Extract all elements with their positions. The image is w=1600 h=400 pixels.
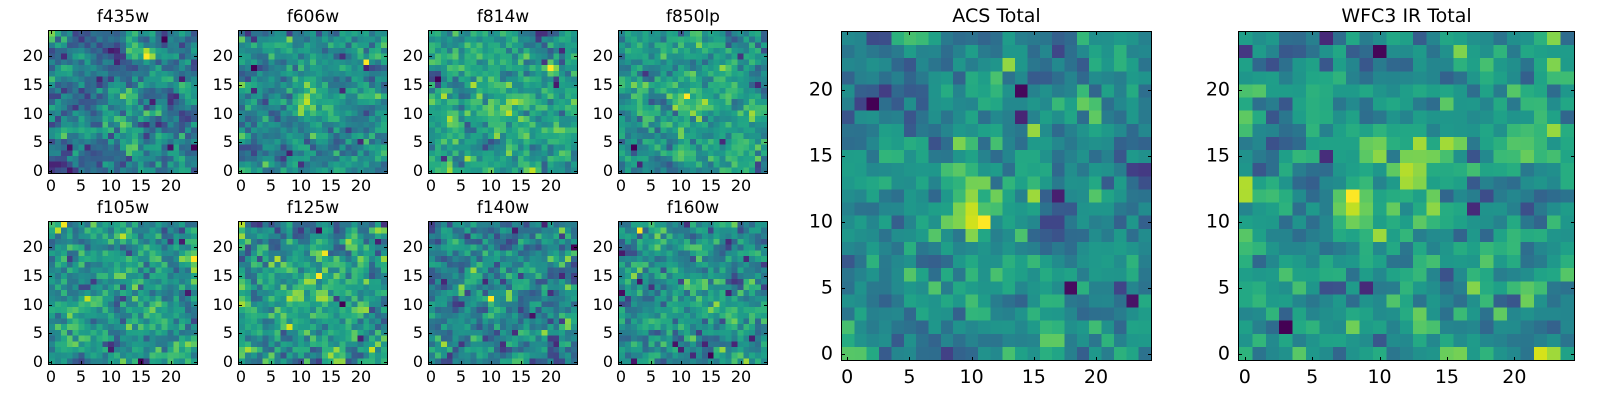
ytick-right-f814w-10 <box>574 114 578 115</box>
ytick-right-acs-total-0 <box>1148 354 1152 355</box>
xtick-top-f814w-0 <box>431 30 432 34</box>
xticklabel-wfc3-ir-total-0: 0 <box>1239 367 1251 388</box>
ytick-acs-total-10 <box>841 222 845 223</box>
ytick-f125w-15 <box>238 276 242 277</box>
ytick-f606w-15 <box>238 85 242 86</box>
ytick-right-f105w-20 <box>194 247 198 248</box>
ytick-f160w-15 <box>618 276 622 277</box>
heatmap-image-f125w <box>239 222 387 364</box>
xticklabel-f140w-20: 20 <box>541 368 561 386</box>
panel-title-f105w: f105w <box>48 198 198 218</box>
xtick-top-f435w-5 <box>81 30 82 34</box>
ytick-right-acs-total-15 <box>1148 156 1152 157</box>
ytick-f140w-20 <box>428 247 432 248</box>
panel-f850lp: f850lp0510152005101520 <box>618 30 768 174</box>
panel-f606w: f606w0510152005101520 <box>238 30 388 174</box>
ytick-right-wfc3-ir-total-15 <box>1571 156 1575 157</box>
yticklabel-f850lp-0: 0 <box>603 162 613 180</box>
ytick-f606w-5 <box>238 142 242 143</box>
xtick-wfc3-ir-total-10 <box>1380 357 1381 361</box>
yticklabel-f606w-0: 0 <box>223 162 233 180</box>
ytick-right-f814w-15 <box>574 85 578 86</box>
yticklabel-acs-total-5: 5 <box>821 278 833 299</box>
ytick-f140w-0 <box>428 362 432 363</box>
ytick-right-acs-total-20 <box>1148 90 1152 91</box>
xtick-acs-total-20 <box>1096 357 1097 361</box>
xticklabel-f140w-0: 0 <box>426 368 436 386</box>
heatmap-axes-f814w <box>428 30 578 174</box>
yticklabel-f140w-15: 15 <box>403 267 423 285</box>
ytick-right-f140w-5 <box>574 333 578 334</box>
xtick-top-f850lp-20 <box>741 30 742 34</box>
heatmap-image-f606w <box>239 31 387 173</box>
ytick-acs-total-15 <box>841 156 845 157</box>
xtick-top-f850lp-0 <box>621 30 622 34</box>
xtick-f850lp-15 <box>711 170 712 174</box>
heatmap-image-acs-total <box>842 32 1151 360</box>
xticklabel-f435w-5: 5 <box>76 177 86 195</box>
yticklabel-f160w-20: 20 <box>593 238 613 256</box>
xtick-top-f606w-0 <box>241 30 242 34</box>
ytick-right-wfc3-ir-total-20 <box>1571 90 1575 91</box>
xtick-top-f606w-15 <box>331 30 332 34</box>
ytick-f814w-20 <box>428 56 432 57</box>
xtick-top-f160w-15 <box>711 221 712 225</box>
xtick-top-f125w-15 <box>331 221 332 225</box>
xticklabel-f606w-5: 5 <box>266 177 276 195</box>
panel-f140w: f140w0510152005101520 <box>428 221 578 365</box>
ytick-right-wfc3-ir-total-10 <box>1571 222 1575 223</box>
xtick-top-f160w-0 <box>621 221 622 225</box>
xticklabel-f435w-20: 20 <box>161 177 181 195</box>
xticklabel-f850lp-5: 5 <box>646 177 656 195</box>
ytick-wfc3-ir-total-0 <box>1238 354 1242 355</box>
yticklabel-f140w-5: 5 <box>413 324 423 342</box>
ytick-right-f606w-10 <box>384 114 388 115</box>
xtick-f850lp-10 <box>681 170 682 174</box>
ytick-right-f160w-0 <box>764 362 768 363</box>
xtick-f140w-15 <box>521 361 522 365</box>
xtick-top-f160w-20 <box>741 221 742 225</box>
xticklabel-f606w-20: 20 <box>351 177 371 195</box>
yticklabel-f160w-15: 15 <box>593 267 613 285</box>
xtick-top-f140w-0 <box>431 221 432 225</box>
panel-title-acs-total: ACS Total <box>841 5 1152 27</box>
xticklabel-f160w-0: 0 <box>616 368 626 386</box>
panel-f125w: f125w0510152005101520 <box>238 221 388 365</box>
panel-title-f814w: f814w <box>428 7 578 27</box>
yticklabel-f160w-0: 0 <box>603 353 613 371</box>
xtick-top-acs-total-5 <box>909 31 910 35</box>
ytick-f435w-15 <box>48 85 52 86</box>
ytick-f140w-10 <box>428 305 432 306</box>
xticklabel-wfc3-ir-total-5: 5 <box>1306 367 1318 388</box>
xticklabel-f850lp-20: 20 <box>731 177 751 195</box>
yticklabel-f160w-10: 10 <box>593 296 613 314</box>
xtick-top-f105w-15 <box>141 221 142 225</box>
xticklabel-f814w-0: 0 <box>426 177 436 195</box>
xtick-f105w-10 <box>111 361 112 365</box>
ytick-right-f606w-15 <box>384 85 388 86</box>
xticklabel-f814w-20: 20 <box>541 177 561 195</box>
ytick-right-f814w-20 <box>574 56 578 57</box>
ytick-right-f105w-5 <box>194 333 198 334</box>
ytick-right-f850lp-20 <box>764 56 768 57</box>
xtick-f606w-15 <box>331 170 332 174</box>
xtick-f435w-10 <box>111 170 112 174</box>
yticklabel-f105w-20: 20 <box>23 238 43 256</box>
ytick-f850lp-5 <box>618 142 622 143</box>
xtick-top-f125w-10 <box>301 221 302 225</box>
ytick-f125w-10 <box>238 305 242 306</box>
ytick-f850lp-15 <box>618 85 622 86</box>
xtick-top-wfc3-ir-total-0 <box>1245 31 1246 35</box>
xtick-top-f435w-0 <box>51 30 52 34</box>
xtick-f850lp-5 <box>651 170 652 174</box>
xtick-f105w-20 <box>171 361 172 365</box>
yticklabel-wfc3-ir-total-5: 5 <box>1218 278 1230 299</box>
panel-acs-total: ACS Total0510152005101520 <box>841 31 1152 361</box>
yticklabel-wfc3-ir-total-15: 15 <box>1206 146 1230 167</box>
xtick-acs-total-0 <box>847 357 848 361</box>
ytick-right-f160w-15 <box>764 276 768 277</box>
yticklabel-f140w-20: 20 <box>403 238 423 256</box>
heatmap-image-f140w <box>429 222 577 364</box>
heatmap-axes-f850lp <box>618 30 768 174</box>
ytick-f140w-15 <box>428 276 432 277</box>
heatmap-axes-wfc3-ir-total <box>1238 31 1575 361</box>
panel-wfc3-ir-total: WFC3 IR Total0510152005101520 <box>1238 31 1575 361</box>
xtick-top-acs-total-20 <box>1096 31 1097 35</box>
panel-f814w: f814w0510152005101520 <box>428 30 578 174</box>
yticklabel-f814w-20: 20 <box>403 47 423 65</box>
xtick-top-f606w-5 <box>271 30 272 34</box>
yticklabel-f814w-0: 0 <box>413 162 423 180</box>
yticklabel-f435w-20: 20 <box>23 47 43 65</box>
xtick-wfc3-ir-total-5 <box>1312 357 1313 361</box>
ytick-right-f435w-20 <box>194 56 198 57</box>
xtick-acs-total-5 <box>909 357 910 361</box>
ytick-f105w-10 <box>48 305 52 306</box>
ytick-f435w-10 <box>48 114 52 115</box>
ytick-right-f160w-5 <box>764 333 768 334</box>
ytick-right-f125w-0 <box>384 362 388 363</box>
xtick-f814w-15 <box>521 170 522 174</box>
xticklabel-f140w-5: 5 <box>456 368 466 386</box>
ytick-f814w-15 <box>428 85 432 86</box>
yticklabel-f435w-5: 5 <box>33 133 43 151</box>
ytick-right-f125w-15 <box>384 276 388 277</box>
panel-title-wfc3-ir-total: WFC3 IR Total <box>1238 5 1575 27</box>
xtick-top-f850lp-10 <box>681 30 682 34</box>
yticklabel-f606w-10: 10 <box>213 105 233 123</box>
ytick-acs-total-20 <box>841 90 845 91</box>
xticklabel-f105w-15: 15 <box>131 368 151 386</box>
xtick-f814w-20 <box>551 170 552 174</box>
xtick-top-f606w-10 <box>301 30 302 34</box>
ytick-right-wfc3-ir-total-5 <box>1571 288 1575 289</box>
heatmap-axes-f105w <box>48 221 198 365</box>
xtick-f125w-20 <box>361 361 362 365</box>
xtick-top-f140w-5 <box>461 221 462 225</box>
yticklabel-f606w-20: 20 <box>213 47 233 65</box>
xticklabel-f140w-15: 15 <box>511 368 531 386</box>
yticklabel-f850lp-20: 20 <box>593 47 613 65</box>
yticklabel-f850lp-10: 10 <box>593 105 613 123</box>
panel-f105w: f105w0510152005101520 <box>48 221 198 365</box>
xticklabel-acs-total-10: 10 <box>960 367 984 388</box>
xtick-top-wfc3-ir-total-15 <box>1447 31 1448 35</box>
yticklabel-f814w-10: 10 <box>403 105 423 123</box>
xtick-top-f850lp-15 <box>711 30 712 34</box>
ytick-acs-total-0 <box>841 354 845 355</box>
heatmap-axes-f160w <box>618 221 768 365</box>
xtick-f435w-5 <box>81 170 82 174</box>
xticklabel-f160w-15: 15 <box>701 368 721 386</box>
xtick-f435w-15 <box>141 170 142 174</box>
xticklabel-f435w-0: 0 <box>46 177 56 195</box>
ytick-f814w-10 <box>428 114 432 115</box>
yticklabel-f435w-10: 10 <box>23 105 43 123</box>
xtick-wfc3-ir-total-20 <box>1514 357 1515 361</box>
xtick-top-f105w-10 <box>111 221 112 225</box>
ytick-right-f606w-20 <box>384 56 388 57</box>
xtick-f140w-10 <box>491 361 492 365</box>
heatmap-axes-acs-total <box>841 31 1152 361</box>
panel-title-f850lp: f850lp <box>618 7 768 27</box>
heatmap-axes-f125w <box>238 221 388 365</box>
yticklabel-f160w-5: 5 <box>603 324 613 342</box>
yticklabel-f105w-10: 10 <box>23 296 43 314</box>
xtick-top-f814w-15 <box>521 30 522 34</box>
yticklabel-wfc3-ir-total-10: 10 <box>1206 212 1230 233</box>
xtick-f814w-5 <box>461 170 462 174</box>
ytick-f606w-10 <box>238 114 242 115</box>
xticklabel-f125w-10: 10 <box>291 368 311 386</box>
xtick-top-f105w-5 <box>81 221 82 225</box>
figure-canvas: f435w0510152005101520f606w05101520051015… <box>0 0 1600 400</box>
xtick-top-acs-total-10 <box>972 31 973 35</box>
heatmap-image-f435w <box>49 31 197 173</box>
xticklabel-f435w-15: 15 <box>131 177 151 195</box>
ytick-right-f850lp-0 <box>764 171 768 172</box>
ytick-wfc3-ir-total-10 <box>1238 222 1242 223</box>
xtick-top-f606w-20 <box>361 30 362 34</box>
yticklabel-wfc3-ir-total-0: 0 <box>1218 344 1230 365</box>
ytick-f160w-20 <box>618 247 622 248</box>
xtick-f160w-20 <box>741 361 742 365</box>
ytick-right-f125w-10 <box>384 305 388 306</box>
xticklabel-f606w-10: 10 <box>291 177 311 195</box>
xticklabel-acs-total-15: 15 <box>1022 367 1046 388</box>
xticklabel-f850lp-10: 10 <box>671 177 691 195</box>
yticklabel-f140w-10: 10 <box>403 296 423 314</box>
yticklabel-acs-total-15: 15 <box>809 146 833 167</box>
ytick-right-f435w-15 <box>194 85 198 86</box>
ytick-right-f140w-10 <box>574 305 578 306</box>
yticklabel-acs-total-20: 20 <box>809 80 833 101</box>
xticklabel-f814w-5: 5 <box>456 177 466 195</box>
xtick-top-f160w-5 <box>651 221 652 225</box>
yticklabel-f814w-5: 5 <box>413 133 423 151</box>
ytick-wfc3-ir-total-15 <box>1238 156 1242 157</box>
xticklabel-f140w-10: 10 <box>481 368 501 386</box>
yticklabel-f814w-15: 15 <box>403 76 423 94</box>
ytick-f850lp-10 <box>618 114 622 115</box>
xticklabel-f105w-5: 5 <box>76 368 86 386</box>
yticklabel-f105w-5: 5 <box>33 324 43 342</box>
ytick-f105w-15 <box>48 276 52 277</box>
ytick-f105w-0 <box>48 362 52 363</box>
ytick-right-f606w-5 <box>384 142 388 143</box>
xticklabel-wfc3-ir-total-10: 10 <box>1367 367 1391 388</box>
ytick-right-wfc3-ir-total-0 <box>1571 354 1575 355</box>
ytick-right-f105w-0 <box>194 362 198 363</box>
panel-title-f160w: f160w <box>618 198 768 218</box>
ytick-right-f814w-0 <box>574 171 578 172</box>
xtick-top-wfc3-ir-total-10 <box>1380 31 1381 35</box>
xtick-top-f850lp-5 <box>651 30 652 34</box>
xtick-top-f814w-20 <box>551 30 552 34</box>
ytick-right-f850lp-15 <box>764 85 768 86</box>
xticklabel-f125w-20: 20 <box>351 368 371 386</box>
ytick-right-acs-total-5 <box>1148 288 1152 289</box>
yticklabel-acs-total-10: 10 <box>809 212 833 233</box>
ytick-f160w-10 <box>618 305 622 306</box>
yticklabel-f606w-5: 5 <box>223 133 233 151</box>
xtick-f125w-10 <box>301 361 302 365</box>
yticklabel-f435w-15: 15 <box>23 76 43 94</box>
heatmap-image-f105w <box>49 222 197 364</box>
xtick-top-f160w-10 <box>681 221 682 225</box>
yticklabel-f125w-5: 5 <box>223 324 233 342</box>
xtick-f850lp-20 <box>741 170 742 174</box>
xtick-top-f814w-5 <box>461 30 462 34</box>
ytick-right-f105w-10 <box>194 305 198 306</box>
ytick-f125w-0 <box>238 362 242 363</box>
xticklabel-acs-total-20: 20 <box>1084 367 1108 388</box>
ytick-f160w-0 <box>618 362 622 363</box>
xticklabel-wfc3-ir-total-15: 15 <box>1435 367 1459 388</box>
ytick-f606w-20 <box>238 56 242 57</box>
xticklabel-f160w-20: 20 <box>731 368 751 386</box>
panel-f160w: f160w0510152005101520 <box>618 221 768 365</box>
xticklabel-f814w-15: 15 <box>511 177 531 195</box>
ytick-f814w-5 <box>428 142 432 143</box>
ytick-f850lp-20 <box>618 56 622 57</box>
xtick-f140w-5 <box>461 361 462 365</box>
yticklabel-f105w-15: 15 <box>23 267 43 285</box>
ytick-wfc3-ir-total-5 <box>1238 288 1242 289</box>
xticklabel-f435w-10: 10 <box>101 177 121 195</box>
xticklabel-f160w-5: 5 <box>646 368 656 386</box>
xtick-f125w-15 <box>331 361 332 365</box>
panel-title-f435w: f435w <box>48 7 198 27</box>
xtick-top-f814w-10 <box>491 30 492 34</box>
yticklabel-wfc3-ir-total-20: 20 <box>1206 80 1230 101</box>
ytick-f435w-20 <box>48 56 52 57</box>
xtick-f814w-10 <box>491 170 492 174</box>
xticklabel-f606w-0: 0 <box>236 177 246 195</box>
xtick-f125w-5 <box>271 361 272 365</box>
xticklabel-f814w-10: 10 <box>481 177 501 195</box>
xtick-f160w-10 <box>681 361 682 365</box>
xticklabel-f105w-10: 10 <box>101 368 121 386</box>
heatmap-image-f814w <box>429 31 577 173</box>
yticklabel-f125w-10: 10 <box>213 296 233 314</box>
xtick-top-f140w-15 <box>521 221 522 225</box>
heatmap-axes-f140w <box>428 221 578 365</box>
xticklabel-f125w-0: 0 <box>236 368 246 386</box>
ytick-right-f435w-0 <box>194 171 198 172</box>
xtick-f606w-5 <box>271 170 272 174</box>
panel-title-f606w: f606w <box>238 7 388 27</box>
xticklabel-f105w-20: 20 <box>161 368 181 386</box>
panel-f435w: f435w0510152005101520 <box>48 30 198 174</box>
ytick-right-f160w-10 <box>764 305 768 306</box>
xticklabel-wfc3-ir-total-20: 20 <box>1502 367 1526 388</box>
xtick-top-f105w-20 <box>171 221 172 225</box>
xtick-wfc3-ir-total-15 <box>1447 357 1448 361</box>
xtick-acs-total-10 <box>972 357 973 361</box>
ytick-f435w-0 <box>48 171 52 172</box>
yticklabel-f606w-15: 15 <box>213 76 233 94</box>
yticklabel-f125w-20: 20 <box>213 238 233 256</box>
xtick-top-wfc3-ir-total-5 <box>1312 31 1313 35</box>
xtick-f606w-10 <box>301 170 302 174</box>
panel-title-f140w: f140w <box>428 198 578 218</box>
ytick-right-f160w-20 <box>764 247 768 248</box>
heatmap-image-f850lp <box>619 31 767 173</box>
xticklabel-f105w-0: 0 <box>46 368 56 386</box>
xtick-top-f125w-20 <box>361 221 362 225</box>
xtick-top-f435w-10 <box>111 30 112 34</box>
yticklabel-f105w-0: 0 <box>33 353 43 371</box>
xticklabel-f850lp-0: 0 <box>616 177 626 195</box>
xticklabel-acs-total-5: 5 <box>903 367 915 388</box>
xtick-f105w-5 <box>81 361 82 365</box>
ytick-f606w-0 <box>238 171 242 172</box>
xtick-top-acs-total-0 <box>847 31 848 35</box>
ytick-right-f435w-10 <box>194 114 198 115</box>
xtick-f105w-15 <box>141 361 142 365</box>
ytick-acs-total-5 <box>841 288 845 289</box>
heatmap-axes-f435w <box>48 30 198 174</box>
xtick-top-f140w-10 <box>491 221 492 225</box>
xticklabel-f125w-5: 5 <box>266 368 276 386</box>
ytick-wfc3-ir-total-20 <box>1238 90 1242 91</box>
ytick-right-f850lp-10 <box>764 114 768 115</box>
xtick-top-f435w-15 <box>141 30 142 34</box>
ytick-right-f140w-15 <box>574 276 578 277</box>
ytick-f125w-20 <box>238 247 242 248</box>
xtick-acs-total-15 <box>1034 357 1035 361</box>
xticklabel-f850lp-15: 15 <box>701 177 721 195</box>
heatmap-image-f160w <box>619 222 767 364</box>
ytick-f814w-0 <box>428 171 432 172</box>
ytick-f105w-20 <box>48 247 52 248</box>
ytick-right-f435w-5 <box>194 142 198 143</box>
xtick-f160w-5 <box>651 361 652 365</box>
xtick-top-f435w-20 <box>171 30 172 34</box>
yticklabel-f140w-0: 0 <box>413 353 423 371</box>
ytick-right-f125w-5 <box>384 333 388 334</box>
xtick-top-f125w-5 <box>271 221 272 225</box>
xticklabel-f160w-10: 10 <box>671 368 691 386</box>
ytick-right-f105w-15 <box>194 276 198 277</box>
xtick-f435w-20 <box>171 170 172 174</box>
ytick-f160w-5 <box>618 333 622 334</box>
